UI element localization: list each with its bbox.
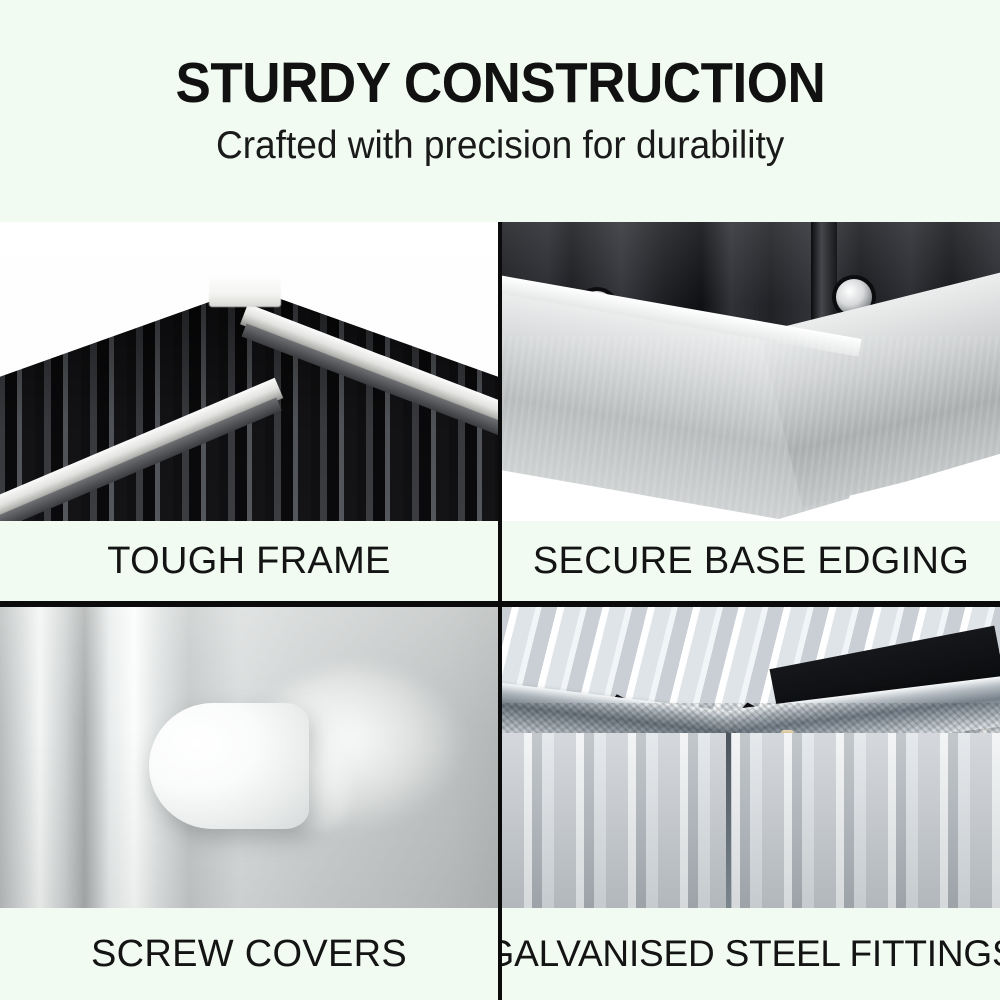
header-banner: STURDY CONSTRUCTION Crafted with precisi… [0, 0, 1000, 222]
photo-secure-base-edging [502, 222, 1000, 521]
caption-galvanised-steel-fittings: GALVANISED STEEL FITTINGS [502, 908, 1000, 1000]
horizontal-divider [0, 601, 1000, 607]
screw-cover-cap [149, 703, 309, 829]
caption-screw-covers: SCREW COVERS [0, 908, 498, 1000]
vertical-divider [498, 222, 502, 1000]
interior-wall-shading [502, 733, 1000, 908]
feature-cell-secure-base-edging: SECURE BASE EDGING [502, 222, 1000, 601]
photo-tough-frame [0, 222, 498, 521]
caption-tough-frame: TOUGH FRAME [0, 521, 498, 601]
photo-screw-covers [0, 607, 498, 908]
caption-secure-base-edging: SECURE BASE EDGING [502, 521, 1000, 601]
feature-grid: TOUGH FRAME SECURE BASE EDGING [0, 222, 1000, 1000]
page-subtitle: Crafted with precision for durability [216, 126, 784, 167]
photo-galvanised-steel-fittings [502, 607, 1000, 908]
roof-ridge-cap [209, 273, 281, 307]
feature-cell-tough-frame: TOUGH FRAME [0, 222, 498, 601]
interior-corner-seam [726, 733, 731, 908]
page-title: STURDY CONSTRUCTION [175, 55, 825, 112]
infographic-page: STURDY CONSTRUCTION Crafted with precisi… [0, 0, 1000, 1000]
feature-cell-galvanised-steel-fittings: GALVANISED STEEL FITTINGS [502, 607, 1000, 1000]
feature-cell-screw-covers: SCREW COVERS [0, 607, 498, 1000]
